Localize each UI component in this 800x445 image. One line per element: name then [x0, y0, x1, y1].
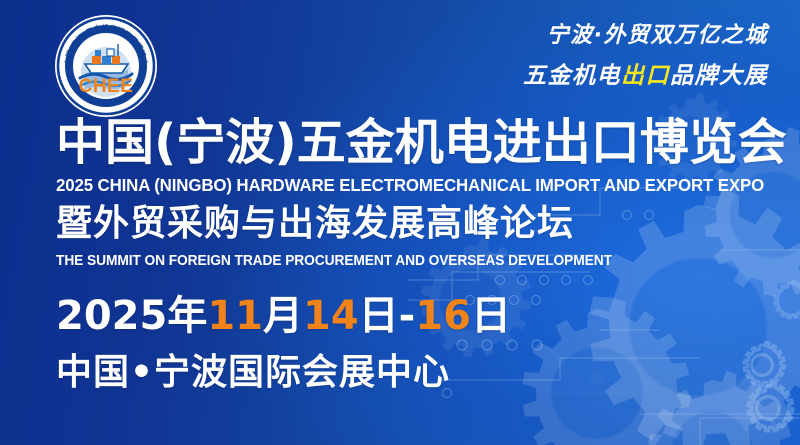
slogan-line-2: 五金机电出口品牌大展	[523, 62, 768, 91]
slogan-line-2-suffix: 品牌大展	[670, 63, 768, 89]
chee-logo: CHEE 中国(宁波)五金机电进出口博览会 CHINA (NINGBO) HAR…	[54, 14, 158, 118]
date-year: 2025年	[56, 293, 207, 339]
slogan-line-2-prefix: 五金机电	[523, 63, 621, 89]
gear-outline-small-3	[775, 281, 800, 318]
chee-logo-graphic: CHEE 中国(宁波)五金机电进出口博览会 CHINA (NINGBO) HAR…	[54, 14, 158, 118]
gear-outline-small-1	[744, 342, 784, 385]
logo-abbr: CHEE	[79, 76, 134, 97]
event-date: 2025年11月14日-16日	[56, 296, 511, 336]
slogan-line-1: 宁波·外贸双万亿之城	[523, 22, 768, 50]
gear-bottom	[648, 371, 793, 445]
page-title-en: 2025 CHINA (NINGBO) HARDWARE ELECTROMECH…	[56, 175, 757, 196]
forum-block: 暨外贸采购与出海发展高峰论坛 THE SUMMIT ON FOREIGN TRA…	[56, 205, 641, 269]
date-day-start: 14	[303, 293, 359, 339]
forum-title: 暨外贸采购与出海发展高峰论坛	[56, 205, 641, 243]
event-venue: 中国•宁波国际会展中心	[56, 355, 450, 391]
date-day-unit-2: 日	[471, 293, 511, 339]
title-block: 中国(宁波)五金机电进出口博览会 2025 CHINA (NINGBO) HAR…	[56, 118, 782, 196]
page-title: 中国(宁波)五金机电进出口博览会	[56, 118, 782, 168]
gear-outline-small-2	[748, 383, 792, 431]
date-day-end: 16	[415, 293, 471, 339]
slogan-line-2-highlight: 出口	[621, 63, 670, 89]
date-separator: -	[399, 293, 416, 339]
event-banner: CHEE 中国(宁波)五金机电进出口博览会 CHINA (NINGBO) HAR…	[0, 0, 800, 445]
slogan-block: 宁波·外贸双万亿之城 五金机电出口品牌大展	[523, 22, 768, 90]
date-month-unit: 月	[263, 293, 303, 339]
gear-mid-left	[522, 298, 691, 445]
forum-title-en: THE SUMMIT ON FOREIGN TRADE PROCUREMENT …	[56, 253, 612, 269]
date-day-unit-1: 日	[359, 293, 399, 339]
date-month-number: 11	[207, 293, 263, 339]
